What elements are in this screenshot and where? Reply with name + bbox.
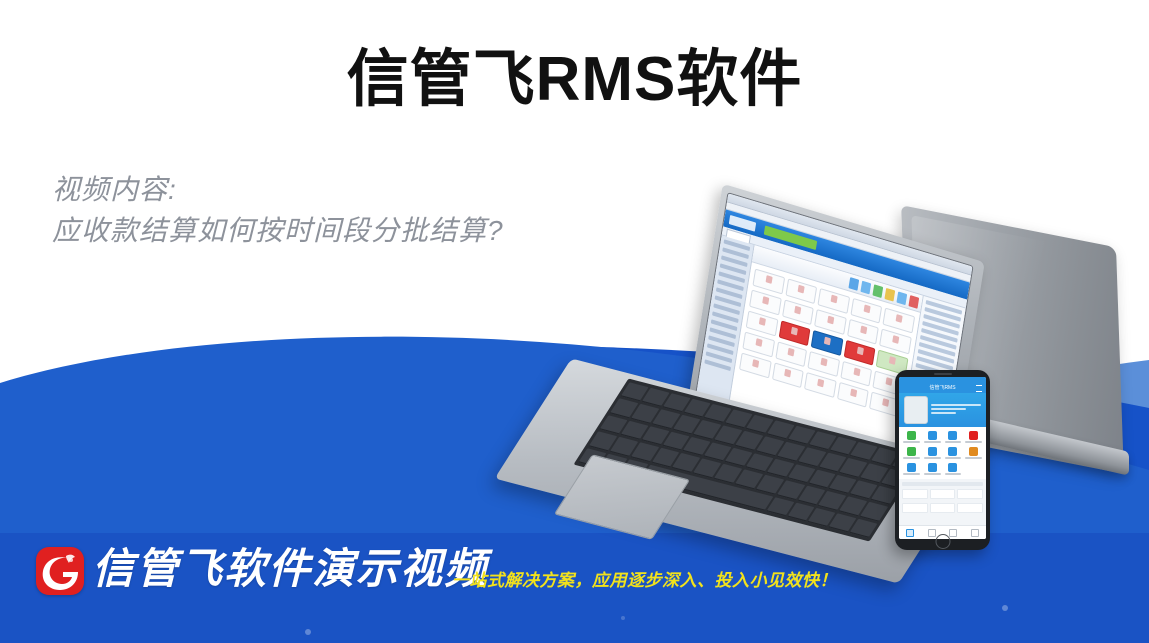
grid-label: [903, 441, 920, 443]
grid-label: [965, 473, 982, 475]
grid-icon[interactable]: [907, 447, 916, 456]
app-grid-icon[interactable]: [739, 353, 771, 379]
grid-icon[interactable]: [907, 431, 916, 440]
stat-cell: [902, 489, 928, 499]
phone-grid-item[interactable]: [964, 463, 983, 475]
toolbar-icon[interactable]: [861, 280, 872, 294]
phone-grid-item[interactable]: [902, 431, 921, 443]
subtitle-block: 视频内容: 应收款结算如何按时间段分批结算?: [52, 170, 504, 252]
decor-dot: [305, 629, 311, 635]
phone-grid-item[interactable]: [923, 463, 942, 475]
app-grid-icon[interactable]: [772, 362, 804, 388]
stat-cell: [902, 503, 928, 513]
subtitle-line-2: 应收款结算如何按时间段分批结算?: [52, 210, 504, 252]
phone-stats-panel: [899, 479, 986, 525]
grid-icon[interactable]: [948, 431, 957, 440]
toolbar-icon[interactable]: [873, 284, 884, 298]
phone-grid-item[interactable]: [902, 463, 921, 475]
chart-icon[interactable]: [949, 529, 957, 537]
device-cluster: 信管飞RMS: [505, 215, 1149, 585]
toolbar-icon[interactable]: [885, 287, 896, 301]
hero-text: [931, 404, 981, 416]
grid-label: [924, 473, 941, 475]
grid-icon[interactable]: [928, 431, 937, 440]
phone-app-title: 信管飞RMS: [929, 384, 955, 391]
phone-speaker: [934, 373, 952, 375]
grid-icon[interactable]: [928, 463, 937, 472]
grid-icon[interactable]: [907, 463, 916, 472]
grid-icon[interactable]: [969, 431, 978, 440]
phone-grid-item[interactable]: [902, 447, 921, 459]
grid-label: [924, 441, 941, 443]
phone-home-button[interactable]: [935, 534, 950, 549]
phone-grid-item[interactable]: [923, 431, 942, 443]
user-icon[interactable]: [971, 529, 979, 537]
decor-dot: [621, 616, 625, 620]
toolbar-icon[interactable]: [849, 277, 860, 291]
phone-grid-item[interactable]: [964, 447, 983, 459]
phone-grid-item[interactable]: [923, 447, 942, 459]
stat-cell: [930, 489, 956, 499]
logo-glyph: [36, 547, 84, 595]
home-icon[interactable]: [906, 529, 914, 537]
nav-home[interactable]: [899, 526, 921, 539]
grid-label: [903, 457, 920, 459]
hero-device-icon: [904, 396, 928, 424]
grid-label: [965, 457, 982, 459]
smartphone: 信管飞RMS: [895, 370, 990, 550]
orders-icon[interactable]: [928, 529, 936, 537]
page-title: 信管飞RMS软件: [0, 44, 1149, 116]
grid-icon[interactable]: [948, 463, 957, 472]
decor-dot: [1002, 605, 1008, 611]
toolbar-icon[interactable]: [897, 291, 908, 305]
subtitle-line-1: 视频内容:: [52, 170, 504, 210]
toolbar-icon[interactable]: [909, 295, 920, 309]
grid-icon[interactable]: [928, 447, 937, 456]
stat-cell: [957, 489, 983, 499]
phone-grid-item[interactable]: [944, 447, 963, 459]
grid-icon: [969, 463, 978, 472]
phone-screen: 信管飞RMS: [899, 377, 986, 539]
phone-icon-grid[interactable]: [899, 427, 986, 479]
stats-grid: [902, 489, 983, 513]
brand-tagline: 一站式解决方案，应用逐步深入、投入小见效快！: [452, 566, 837, 591]
grid-label: [924, 457, 941, 459]
phone-hero-banner: [899, 393, 986, 427]
stat-cell: [957, 503, 983, 513]
phone-app-header: 信管飞RMS: [899, 382, 986, 393]
grid-label: [945, 457, 962, 459]
app-grid-icon[interactable]: [837, 382, 869, 408]
grid-label: [965, 441, 982, 443]
grid-icon[interactable]: [948, 447, 957, 456]
nav-profile[interactable]: [964, 526, 986, 539]
grid-icon[interactable]: [969, 447, 978, 456]
grid-label: [945, 441, 962, 443]
stat-cell: [930, 503, 956, 513]
phone-grid-item[interactable]: [964, 431, 983, 443]
grid-label: [945, 473, 962, 475]
brand-title: 信管飞软件演示视频: [92, 543, 488, 595]
grid-label: [903, 473, 920, 475]
phone-grid-item[interactable]: [944, 431, 963, 443]
xinguanfei-logo-icon: [36, 547, 84, 595]
phone-grid-item[interactable]: [944, 463, 963, 475]
presentation-slide: 信管飞RMS: [0, 0, 1149, 643]
menu-icon[interactable]: [976, 385, 982, 392]
stats-header: [902, 482, 983, 486]
app-grid-icon[interactable]: [804, 372, 836, 398]
